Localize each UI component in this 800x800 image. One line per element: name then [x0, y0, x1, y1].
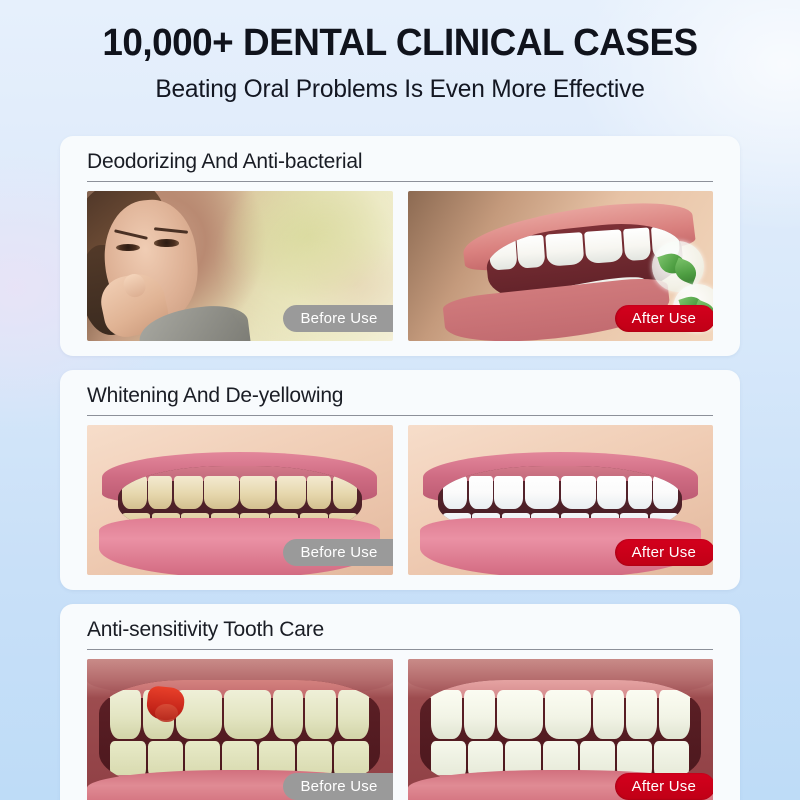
card-title: Anti-sensitivity Tooth Care [87, 618, 713, 649]
after-image-healthy-gums: After Use [408, 659, 714, 800]
after-use-badge: After Use [615, 773, 713, 800]
after-use-badge: After Use [615, 305, 713, 332]
upper-teeth-row [431, 690, 690, 739]
case-card-whitening: Whitening And De-yellowing [60, 370, 740, 590]
gum-bleeding-mark-secondary [155, 704, 177, 722]
case-card-list: Deodorizing And Anti-bacterial Bef [60, 136, 740, 800]
before-after-pair: Before Use After Us [87, 659, 713, 800]
before-after-pair: Before Use After Use [87, 425, 713, 575]
after-use-badge: After Use [615, 539, 713, 566]
before-image-bad-breath: Before Use [87, 191, 393, 341]
before-after-pair: Before Use [87, 191, 713, 341]
title-divider [87, 415, 713, 416]
after-image-fresh-breath: After Use [408, 191, 714, 341]
title-divider [87, 649, 713, 650]
after-image-white-teeth: After Use [408, 425, 714, 575]
card-title: Deodorizing And Anti-bacterial [87, 150, 713, 181]
page-subtitle: Beating Oral Problems Is Even More Effec… [8, 75, 792, 104]
before-use-badge: Before Use [283, 773, 392, 800]
before-use-badge: Before Use [283, 539, 392, 566]
before-image-inflamed-gums: Before Use [87, 659, 393, 800]
upper-teeth-row [443, 476, 678, 509]
case-card-deodorizing: Deodorizing And Anti-bacterial Bef [60, 136, 740, 356]
upper-teeth-row [122, 476, 357, 509]
promo-page: 10,000+ DENTAL CLINICAL CASES Beating Or… [0, 0, 800, 800]
before-image-yellow-teeth: Before Use [87, 425, 393, 575]
page-header: 10,000+ DENTAL CLINICAL CASES Beating Or… [0, 0, 800, 104]
title-divider [87, 181, 713, 182]
before-use-badge: Before Use [283, 305, 392, 332]
page-title: 10,000+ DENTAL CLINICAL CASES [12, 22, 788, 65]
card-title: Whitening And De-yellowing [87, 384, 713, 415]
case-card-anti-sensitivity: Anti-sensitivity Tooth Care [60, 604, 740, 800]
